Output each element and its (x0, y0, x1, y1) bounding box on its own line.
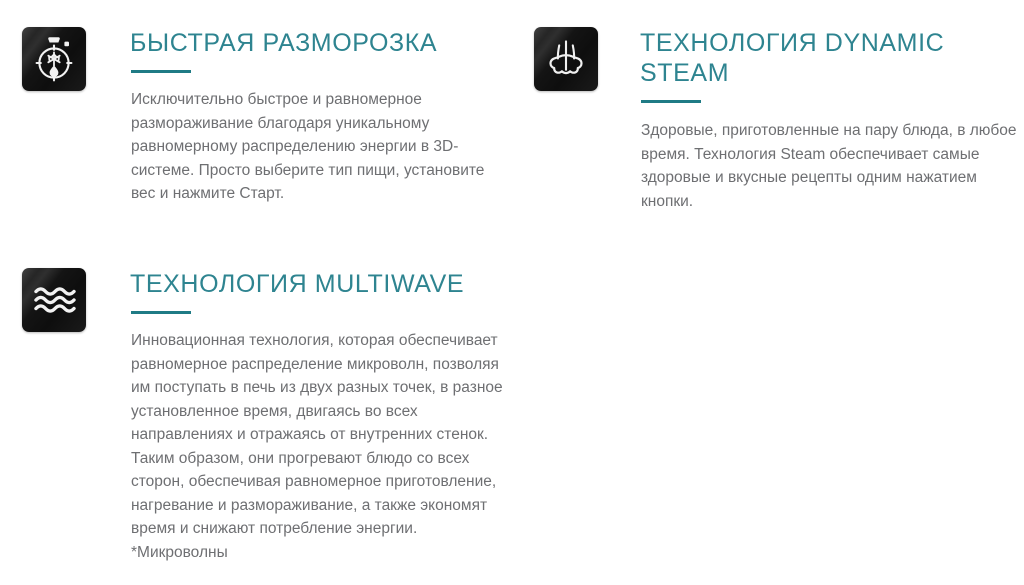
feature-description: Исключительно быстрое и равномерное разм… (131, 88, 487, 206)
title-divider (641, 100, 701, 103)
feature-description: Здоровые, приготовленные на пару блюда, … (641, 119, 1017, 213)
feature-title: ТЕХНОЛОГИЯ MULTIWAVE (130, 269, 513, 299)
waves-icon (22, 268, 86, 332)
feature-card-fast-defrost: БЫСТРАЯ РАЗМОРОЗКА Исключительно быстрое… (22, 27, 512, 206)
feature-title: ТЕХНОЛОГИЯ DYNAMIC STEAM (640, 28, 970, 88)
feature-body: ТЕХНОЛОГИЯ MULTIWAVE Инновационная техно… (130, 268, 513, 564)
steam-cloud-icon (534, 27, 598, 91)
feature-grid: БЫСТРАЯ РАЗМОРОЗКА Исключительно быстрое… (0, 0, 1024, 585)
title-divider (131, 70, 191, 73)
stopwatch-snowflake-icon (22, 27, 86, 91)
title-divider (131, 311, 191, 314)
feature-body: ТЕХНОЛОГИЯ DYNAMIC STEAM Здоровые, приго… (640, 27, 1017, 213)
feature-body: БЫСТРАЯ РАЗМОРОЗКА Исключительно быстрое… (130, 27, 487, 206)
feature-title: БЫСТРАЯ РАЗМОРОЗКА (130, 28, 487, 58)
feature-description: Инновационная технология, которая обеспе… (131, 329, 513, 564)
feature-card-multiwave: ТЕХНОЛОГИЯ MULTIWAVE Инновационная техно… (22, 268, 512, 564)
feature-card-dynamic-steam: ТЕХНОЛОГИЯ DYNAMIC STEAM Здоровые, приго… (534, 27, 1014, 213)
